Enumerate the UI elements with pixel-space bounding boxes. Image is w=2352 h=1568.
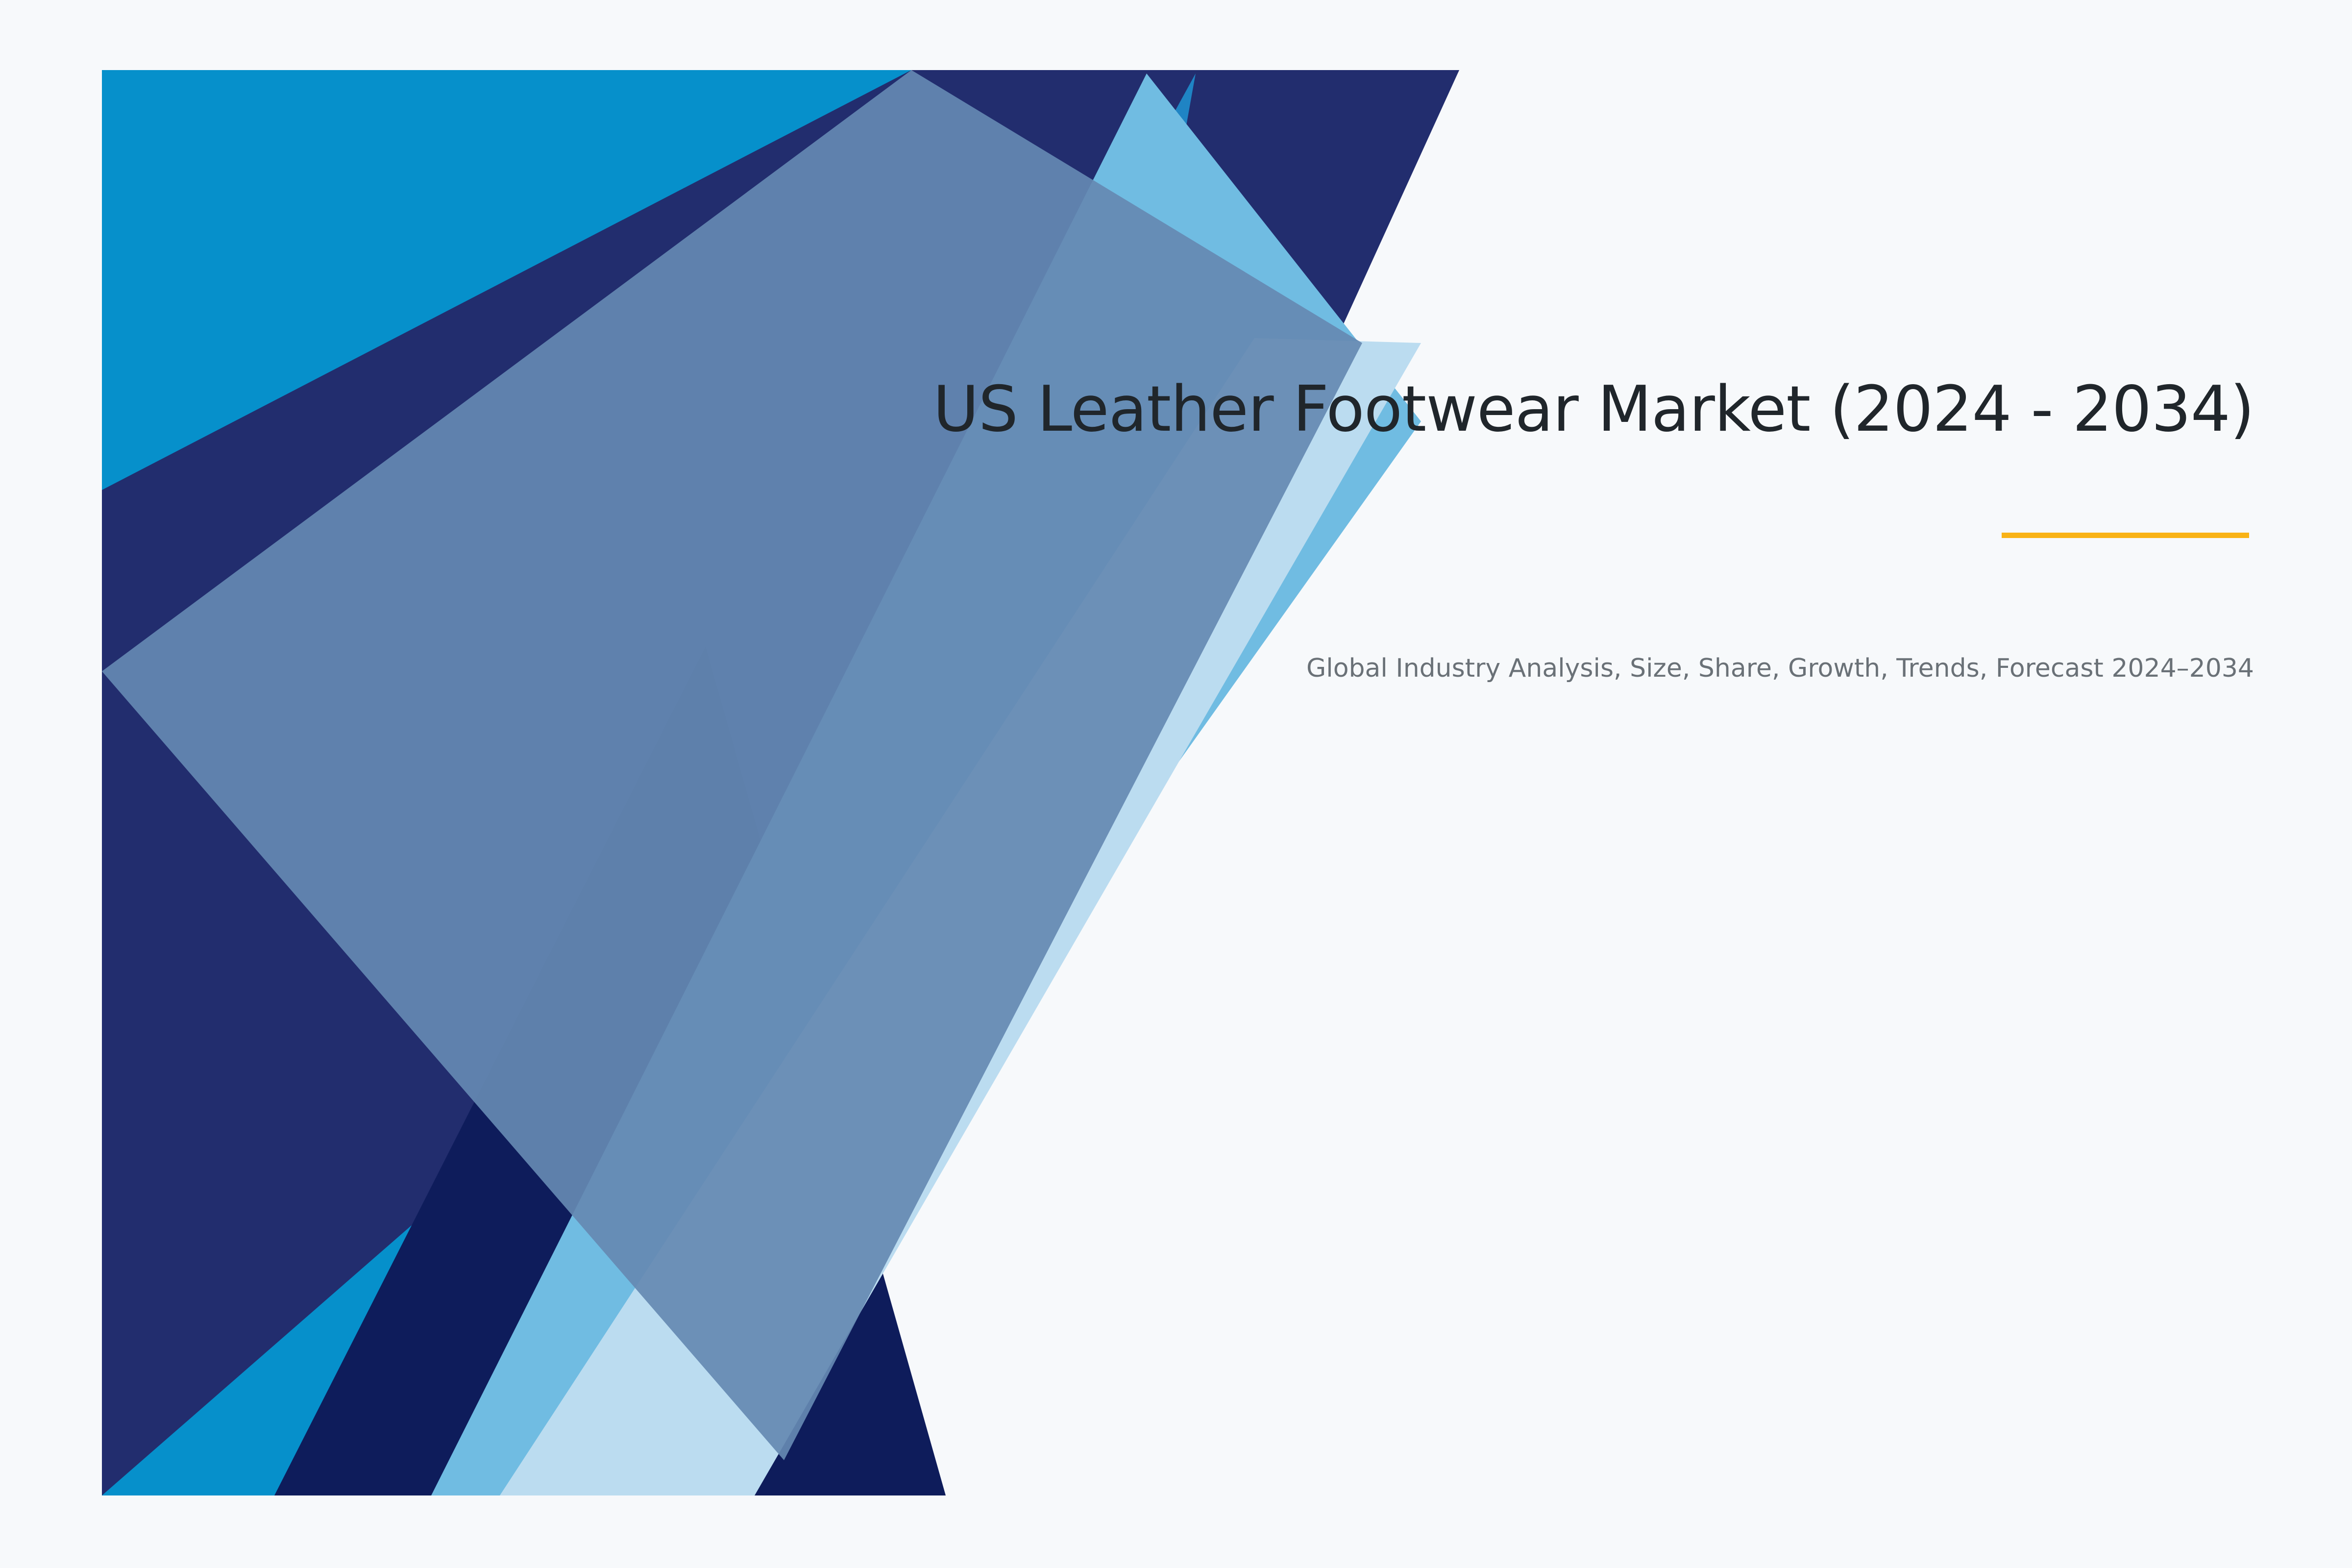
title-slide: US Leather Footwear Market (2024 - 2034)… xyxy=(0,0,2352,1568)
abstract-geometric-banner xyxy=(0,0,2352,1568)
title-accent-rule xyxy=(2002,533,2249,538)
page-subtitle: Global Industry Analysis, Size, Share, G… xyxy=(833,652,2254,686)
title-text-block: US Leather Footwear Market (2024 - 2034) xyxy=(833,372,2254,446)
page-title: US Leather Footwear Market (2024 - 2034) xyxy=(833,372,2254,446)
